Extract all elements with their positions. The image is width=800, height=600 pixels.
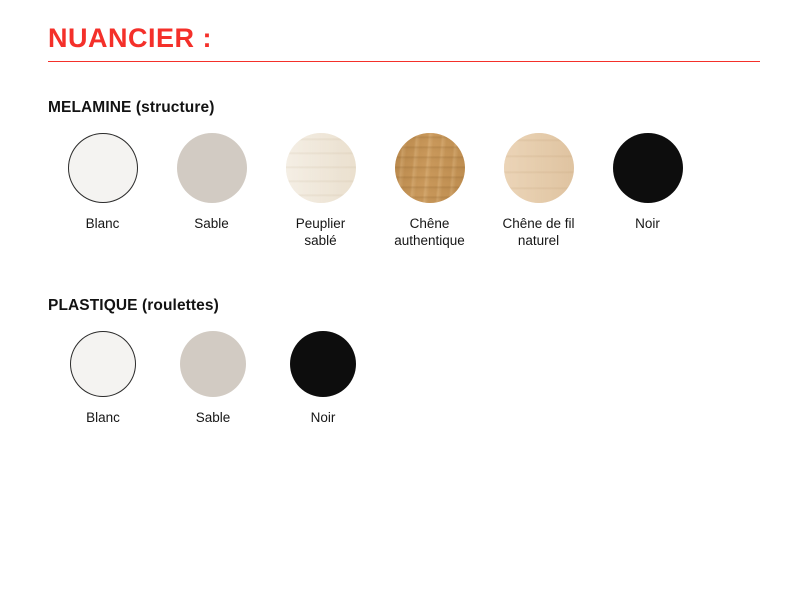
swatch-label-sable-melamine: Sable — [194, 216, 229, 233]
swatch-item-chene-de-fil-naturel[interactable]: Chêne de fil naturel — [484, 133, 593, 249]
swatch-label-blanc-melamine: Blanc — [86, 216, 120, 233]
swatch-row-plastique: Blanc Sable Noir — [48, 331, 378, 427]
swatch-item-sable-plastique[interactable]: Sable — [158, 331, 268, 427]
swatch-disc-noir-melamine[interactable] — [613, 133, 683, 203]
swatch-label-chene-de-fil-naturel: Chêne de fil naturel — [502, 216, 574, 249]
swatch-label-sable-plastique: Sable — [196, 410, 231, 427]
page-title: NUANCIER : — [48, 24, 760, 54]
swatch-disc-sable-melamine[interactable] — [177, 133, 247, 203]
page-title-block: NUANCIER : — [48, 24, 760, 62]
title-underline-rule — [48, 61, 760, 62]
swatch-item-noir-melamine[interactable]: Noir — [593, 133, 702, 233]
swatch-label-chene-authentique: Chêne authentique — [394, 216, 465, 249]
swatch-row-melamine: Blanc Sable Peuplier sablé Chêne authent… — [48, 133, 702, 249]
swatch-label-noir-melamine: Noir — [635, 216, 660, 233]
swatch-disc-blanc-plastique[interactable] — [70, 331, 136, 397]
swatch-item-blanc-plastique[interactable]: Blanc — [48, 331, 158, 427]
swatch-label-blanc-plastique: Blanc — [86, 410, 120, 427]
swatch-disc-blanc-melamine[interactable] — [68, 133, 138, 203]
swatch-disc-chene-de-fil-naturel[interactable] — [504, 133, 574, 203]
swatch-item-blanc-melamine[interactable]: Blanc — [48, 133, 157, 233]
section-heading-melamine: MELAMINE (structure) — [48, 99, 702, 117]
section-heading-plastique: PLASTIQUE (roulettes) — [48, 297, 378, 315]
swatch-disc-noir-plastique[interactable] — [290, 331, 356, 397]
colour-chart-page: NUANCIER : MELAMINE (structure) Blanc Sa… — [0, 0, 800, 600]
swatch-item-peuplier-sable[interactable]: Peuplier sablé — [266, 133, 375, 249]
swatch-disc-peuplier-sable[interactable] — [286, 133, 356, 203]
section-melamine: MELAMINE (structure) Blanc Sable Peuplie… — [48, 99, 702, 249]
swatch-disc-chene-authentique[interactable] — [395, 133, 465, 203]
swatch-item-sable-melamine[interactable]: Sable — [157, 133, 266, 233]
swatch-label-noir-plastique: Noir — [311, 410, 336, 427]
swatch-disc-sable-plastique[interactable] — [180, 331, 246, 397]
swatch-label-peuplier-sable: Peuplier sablé — [296, 216, 346, 249]
swatch-item-chene-authentique[interactable]: Chêne authentique — [375, 133, 484, 249]
swatch-item-noir-plastique[interactable]: Noir — [268, 331, 378, 427]
section-plastique: PLASTIQUE (roulettes) Blanc Sable Noir — [48, 297, 378, 427]
